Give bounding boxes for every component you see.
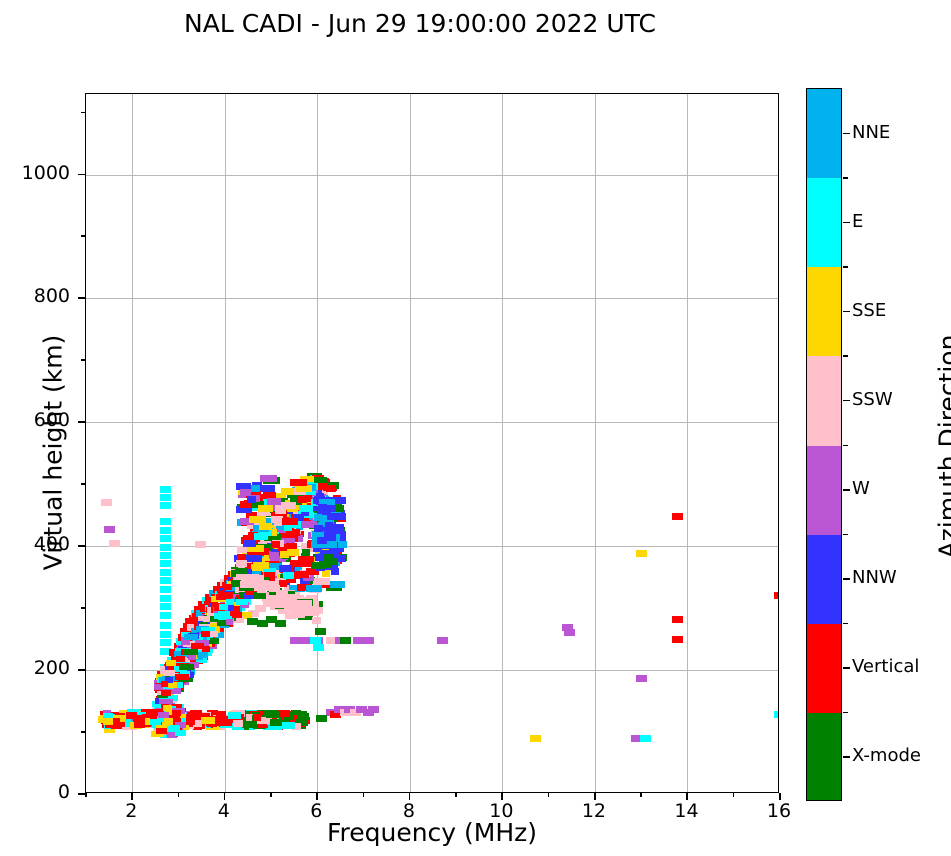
colorbar-tick: [843, 578, 850, 580]
colorbar-boundary-tick: [843, 534, 848, 536]
colorbar-label-nnw: NNW: [852, 567, 897, 588]
echo-point: [160, 639, 171, 646]
echo-point: [672, 616, 683, 623]
echo-point: [160, 560, 171, 567]
colorbar-tick: [843, 311, 850, 313]
y-tick-label: 0: [10, 781, 70, 803]
echo-point: [338, 541, 347, 548]
colorbar-title: Azimuth Direction: [934, 197, 951, 697]
x-tick-minor: [85, 793, 87, 797]
echo-point: [160, 612, 171, 619]
echo-point: [318, 504, 327, 511]
echo-point: [101, 499, 112, 506]
echo-point: [530, 735, 541, 742]
echo-point: [672, 636, 683, 643]
echo-point: [197, 652, 208, 658]
echo-point: [257, 586, 266, 593]
x-tick-minor: [270, 793, 272, 797]
colorbar-boundary-tick: [843, 712, 848, 714]
echo-point: [160, 603, 171, 610]
echo-point: [302, 549, 310, 556]
colorbar-boundary-tick: [843, 266, 848, 268]
colorbar-tick: [843, 222, 850, 224]
colorbar-band-e: [807, 178, 841, 267]
echo-point: [640, 735, 651, 742]
echo-point: [249, 574, 259, 581]
echo-point: [672, 513, 683, 520]
y-tick-minor: [81, 607, 85, 609]
echo-point: [201, 717, 215, 724]
echo-point: [254, 592, 266, 599]
echo-point: [103, 718, 113, 725]
echo-point: [226, 619, 233, 625]
echo-point: [241, 578, 250, 585]
y-tick-minor: [81, 483, 85, 485]
echo-point: [283, 572, 294, 579]
echo-point: [210, 631, 218, 637]
colorbar-label-ssw: SSW: [852, 389, 893, 410]
colorbar-label-sse: SSE: [852, 300, 886, 321]
x-tick-minor: [455, 793, 457, 797]
x-tick-major: [131, 793, 133, 800]
colorbar-boundary-tick: [843, 623, 848, 625]
colorbar-boundary-tick: [843, 445, 848, 447]
echo-point: [260, 475, 277, 482]
echo-point: [271, 516, 283, 523]
echo-point: [242, 721, 256, 728]
echo-point: [158, 712, 169, 718]
echo-point: [161, 681, 168, 687]
echo-point: [298, 496, 307, 503]
echo-point: [315, 628, 326, 635]
echo-point: [176, 656, 185, 662]
colorbar-tick: [843, 489, 850, 491]
colorbar-tick: [843, 667, 850, 669]
echo-point: [363, 637, 374, 644]
colorbar-band-nne: [807, 89, 841, 178]
x-axis-label: Frequency (MHz): [85, 818, 779, 847]
page-title: NAL CADI - Jun 29 19:00:00 2022 UTC: [0, 9, 840, 38]
echo-point: [327, 513, 335, 520]
y-tick-major: [78, 793, 85, 795]
echo-point: [259, 485, 275, 492]
x-tick-minor: [640, 793, 642, 797]
echo-point: [253, 714, 261, 721]
echo-point: [290, 479, 307, 486]
echo-point: [175, 730, 186, 736]
echo-point: [279, 580, 287, 587]
echo-point: [184, 634, 198, 640]
colorbar-label-w: W: [852, 478, 870, 499]
y-tick-major: [78, 297, 85, 299]
x-tick-major: [501, 793, 503, 800]
colorbar-label-x-mode: X-mode: [852, 745, 921, 766]
echo-point: [160, 518, 171, 525]
echo-point: [295, 485, 312, 492]
x-tick-minor: [548, 793, 550, 797]
echo-point: [161, 690, 171, 696]
echo-point: [160, 595, 171, 602]
echo-point: [282, 722, 295, 729]
x-tick-major: [686, 793, 688, 800]
echo-point: [245, 555, 262, 562]
echo-point: [330, 581, 345, 588]
x-tick-minor: [178, 793, 180, 797]
colorbar-tick: [843, 133, 850, 135]
echo-point: [275, 507, 286, 514]
colorbar-band-ssw: [807, 356, 841, 445]
echo-point: [104, 526, 115, 533]
echo-point: [253, 562, 269, 569]
echo-point: [279, 600, 293, 607]
echo-point: [195, 541, 206, 548]
echo-point: [312, 617, 321, 624]
echo-point: [163, 705, 172, 711]
echo-point: [636, 675, 647, 682]
colorbar-label-vertical: Vertical: [852, 656, 919, 677]
plot-area: [85, 93, 779, 793]
echo-point: [215, 719, 228, 726]
y-tick-major: [78, 174, 85, 176]
x-tick-major: [224, 793, 226, 800]
colorbar-boundary-tick: [843, 355, 848, 357]
echo-point: [236, 599, 248, 605]
echo-point: [160, 569, 171, 576]
colorbar-band-nnw: [807, 535, 841, 624]
echo-point: [309, 607, 323, 614]
echo-point: [236, 560, 247, 567]
echo-point: [216, 594, 225, 600]
echo-point: [317, 537, 327, 544]
echo-point: [774, 592, 779, 599]
echo-point: [166, 660, 176, 666]
echo-point: [160, 527, 171, 534]
echo-scatter-layer: [86, 94, 778, 792]
echo-point: [564, 629, 575, 636]
echo-point: [168, 682, 177, 688]
y-tick-minor: [81, 731, 85, 733]
echo-point: [275, 620, 286, 627]
echo-point: [156, 728, 164, 734]
echo-point: [326, 541, 337, 548]
colorbar-band-x-mode: [807, 713, 841, 801]
echo-point: [160, 544, 171, 551]
x-tick-minor: [733, 793, 735, 797]
echo-point: [218, 611, 230, 617]
colorbar-tick: [843, 756, 850, 758]
echo-point: [310, 637, 321, 644]
colorbar-band-vertical: [807, 624, 841, 713]
x-tick-major: [779, 793, 781, 800]
x-tick-major: [316, 793, 318, 800]
colorbar-band-sse: [807, 267, 841, 356]
echo-point: [133, 715, 144, 722]
x-tick-major: [409, 793, 411, 800]
echo-point: [299, 505, 313, 512]
echo-point: [210, 638, 219, 644]
echo-point: [160, 622, 171, 629]
echo-point: [437, 637, 448, 644]
echo-point: [326, 485, 336, 492]
ionogram-figure: NAL CADI - Jun 29 19:00:00 2022 UTC 2468…: [0, 0, 951, 856]
echo-point: [636, 550, 647, 557]
y-tick-minor: [81, 235, 85, 237]
y-tick-major: [78, 669, 85, 671]
echo-point: [160, 494, 171, 501]
echo-point: [314, 514, 322, 521]
echo-point: [184, 649, 198, 655]
echo-point: [259, 523, 272, 530]
colorbar-boundary-tick: [843, 177, 848, 179]
colorbar-label-e: E: [852, 211, 863, 232]
echo-point: [243, 540, 256, 547]
echo-point: [160, 586, 171, 593]
echo-point: [340, 637, 351, 644]
echo-point: [160, 577, 171, 584]
echo-point: [290, 610, 303, 617]
echo-point: [297, 600, 312, 607]
echo-point: [254, 533, 268, 540]
echo-point: [269, 552, 279, 559]
colorbar-band-w: [807, 446, 841, 535]
echo-point: [335, 497, 346, 504]
y-tick-major: [78, 421, 85, 423]
echo-point: [160, 535, 171, 542]
colorbar-label-nne: NNE: [852, 122, 890, 143]
echo-point: [270, 719, 282, 726]
echo-point: [266, 711, 280, 718]
echo-point: [368, 706, 379, 713]
y-axis-label: Virtual height (km): [39, 153, 68, 753]
echo-point: [295, 571, 309, 578]
y-tick-major: [78, 545, 85, 547]
echo-point: [258, 505, 273, 512]
echo-point: [314, 525, 323, 532]
echo-point: [160, 502, 171, 509]
echo-point: [175, 674, 189, 680]
azimuth-colorbar: [806, 88, 842, 801]
echo-point: [267, 498, 281, 505]
echo-point: [247, 496, 256, 503]
echo-point: [276, 590, 288, 597]
x-tick-minor: [363, 793, 365, 797]
echo-point: [306, 585, 322, 592]
x-tick-major: [594, 793, 596, 800]
y-tick-minor: [81, 112, 85, 114]
echo-point: [160, 631, 171, 638]
echo-point: [325, 522, 333, 529]
echo-point: [109, 540, 120, 547]
echo-point: [335, 513, 346, 520]
echo-point: [272, 541, 280, 548]
echo-point: [219, 604, 228, 610]
echo-point: [228, 712, 241, 719]
echo-point: [313, 644, 324, 651]
echo-point: [179, 664, 194, 670]
echo-point: [774, 711, 779, 718]
y-tick-minor: [81, 359, 85, 361]
echo-point: [316, 715, 327, 722]
echo-point: [164, 670, 175, 676]
colorbar-tick: [843, 400, 850, 402]
echo-point: [233, 720, 243, 727]
echo-point: [160, 552, 171, 559]
echo-point: [324, 554, 333, 561]
echo-point: [282, 518, 298, 525]
echo-point: [172, 710, 181, 716]
echo-point: [280, 565, 291, 572]
echo-point: [160, 486, 171, 493]
